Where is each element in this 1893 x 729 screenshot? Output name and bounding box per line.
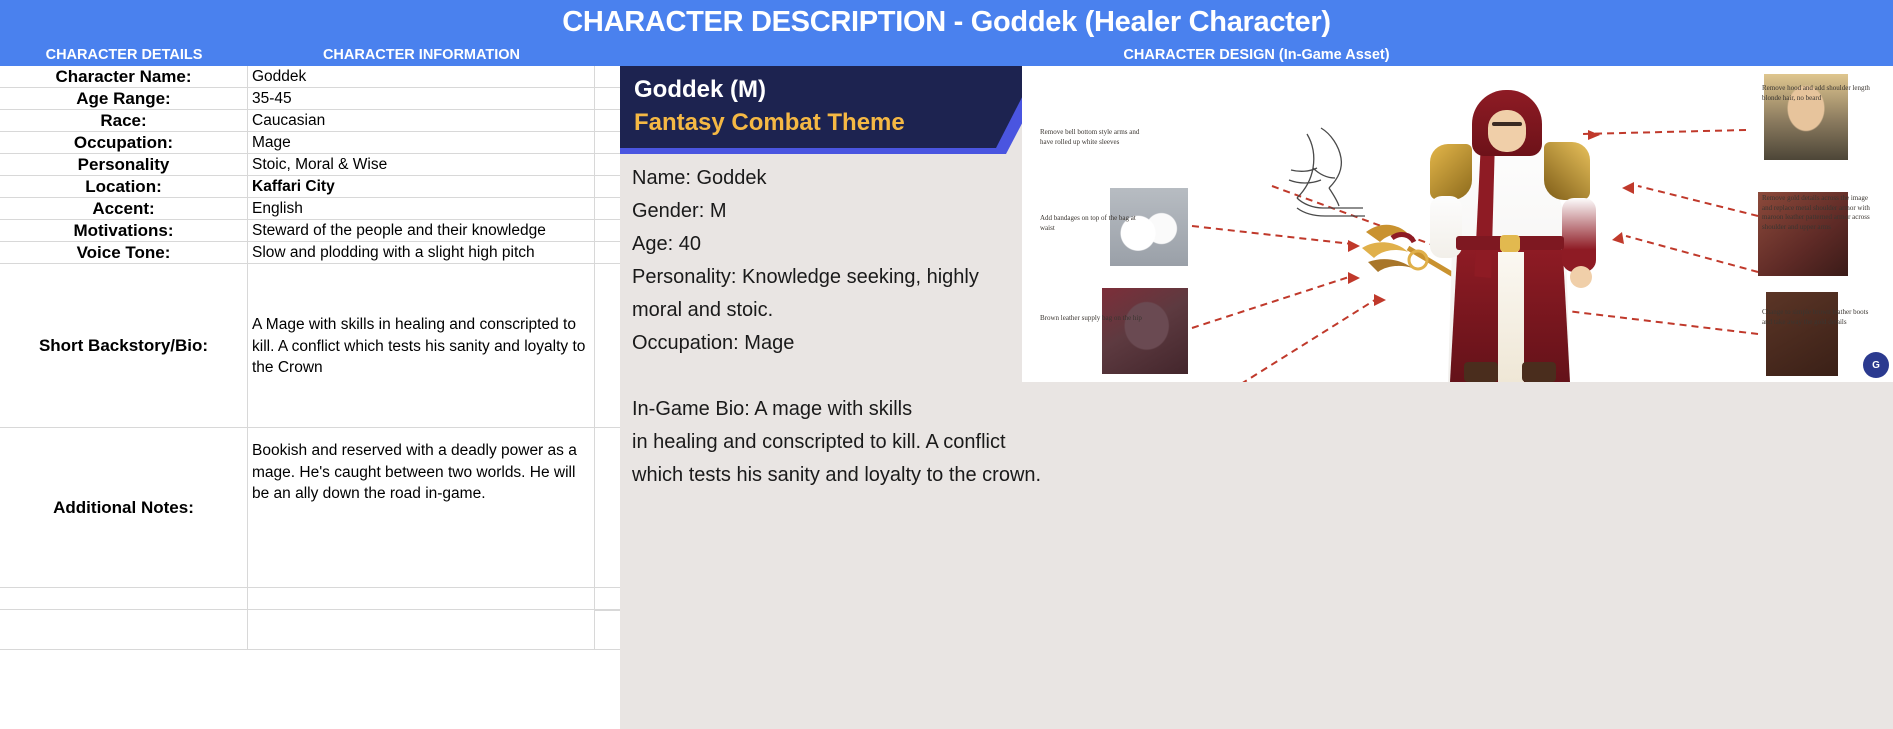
page-title: CHARACTER DESCRIPTION - Goddek (Healer C… [562, 6, 1330, 39]
row-tail [595, 610, 620, 649]
column-header-character-details: CHARACTER DETAILS [0, 44, 248, 66]
banner-character-name: Goddek (M) [634, 76, 766, 104]
table-row[interactable]: Voice Tone: Slow and plodding with a sli… [0, 242, 620, 264]
boot-left [1464, 362, 1498, 382]
annotation-sleeves: Remove bell bottom style arms and have r… [1040, 128, 1152, 147]
row-value[interactable]: 35-45 [248, 88, 595, 109]
row-tail [595, 88, 620, 109]
row-tail [595, 428, 620, 587]
character-details-table: Character Name: Goddek Age Range: 35-45 … [0, 66, 620, 729]
row-tail [595, 110, 620, 131]
table-row[interactable]: Occupation: Mage [0, 132, 620, 154]
character-figure [1394, 90, 1624, 382]
annotation-boots: Change to simple brown leather boots and… [1762, 308, 1874, 327]
row-tail [595, 154, 620, 175]
hand-right [1570, 266, 1592, 288]
row-tail [595, 242, 620, 263]
bio-line: In-Game Bio: A mage with skills [632, 393, 1192, 426]
annotation-hair: Remove hood and add shoulder length blon… [1762, 84, 1874, 103]
table-row[interactable]: Accent: English [0, 198, 620, 220]
table-row[interactable]: Character Name: Goddek [0, 66, 620, 88]
row-label [0, 610, 248, 649]
row-label: Race: [0, 110, 248, 131]
slide-page: CHARACTER DESCRIPTION - Goddek (Healer C… [0, 0, 1893, 729]
row-value[interactable]: Stoic, Moral & Wise [248, 154, 595, 175]
row-value[interactable]: Slow and plodding with a slight high pit… [248, 242, 595, 263]
row-tail [595, 66, 620, 87]
sleeve-right [1562, 198, 1596, 272]
row-value[interactable] [248, 610, 595, 649]
table-row-backstory[interactable]: Short Backstory/Bio: A Mage with skills … [0, 264, 620, 428]
leather-boots-thumbnail [1766, 292, 1838, 376]
shoulder-armor-right [1544, 142, 1590, 200]
row-tail [595, 588, 620, 609]
row-value[interactable]: Caucasian [248, 110, 595, 131]
page-title-bar: CHARACTER DESCRIPTION - Goddek (Healer C… [0, 0, 1893, 44]
table-row-empty[interactable] [0, 588, 620, 610]
row-label: Occupation: [0, 132, 248, 153]
annotation-armor: Remove gold details across the image and… [1762, 194, 1874, 232]
table-row[interactable]: Location: Kaffari City [0, 176, 620, 198]
row-label: Personality [0, 154, 248, 175]
row-label: Character Name: [0, 66, 248, 87]
row-label-notes: Additional Notes: [0, 428, 248, 587]
row-value-backstory[interactable]: A Mage with skills in healing and conscr… [248, 264, 595, 427]
leather-bag-thumbnail [1102, 288, 1188, 374]
annotation-supply-bag: Brown leather supply bag on the hip [1040, 314, 1152, 324]
column-header-row: CHARACTER DETAILS CHARACTER INFORMATION … [0, 44, 1893, 66]
slide-banner: Goddek (M) Fantasy Combat Theme [620, 66, 1038, 148]
bio-line: which tests his sanity and loyalty to th… [632, 459, 1192, 492]
watermark-badge: G [1863, 352, 1889, 378]
table-row-notes[interactable]: Additional Notes: Bookish and reserved w… [0, 428, 620, 588]
row-tail [595, 132, 620, 153]
robe-center-panel [1498, 252, 1524, 382]
row-label: Location: [0, 176, 248, 197]
character-design-image[interactable]: Remove bell bottom style arms and have r… [1022, 66, 1893, 382]
row-value[interactable]: Kaffari City [248, 176, 595, 197]
boot-right [1522, 362, 1556, 382]
annotation-bandages: Add bandages on top of the bag at waist [1040, 214, 1152, 233]
character-design-slide: Goddek (M) Fantasy Combat Theme Name: Go… [620, 66, 1893, 729]
eyes [1492, 122, 1522, 126]
row-value[interactable]: English [248, 198, 595, 219]
belt-buckle [1500, 235, 1520, 252]
row-tail [595, 264, 620, 427]
row-tail [595, 220, 620, 241]
row-label-backstory: Short Backstory/Bio: [0, 264, 248, 427]
table-row[interactable]: Race: Caucasian [0, 110, 620, 132]
face [1488, 110, 1526, 152]
row-value[interactable]: Goddek [248, 66, 595, 87]
column-header-gap [595, 44, 620, 66]
row-tail [595, 176, 620, 197]
bio-line: in healing and conscripted to kill. A co… [632, 426, 1192, 459]
row-label: Accent: [0, 198, 248, 219]
row-value-notes[interactable]: Bookish and reserved with a deadly power… [248, 428, 595, 587]
row-label: Voice Tone: [0, 242, 248, 263]
table-row[interactable]: Age Range: 35-45 [0, 88, 620, 110]
row-label [0, 588, 248, 609]
row-value[interactable] [248, 588, 595, 609]
column-header-character-design: CHARACTER DESIGN (In-Game Asset) [620, 44, 1893, 66]
table-row[interactable]: Motivations: Steward of the people and t… [0, 220, 620, 242]
row-value[interactable]: Mage [248, 132, 595, 153]
table-row-empty[interactable] [0, 610, 620, 650]
table-row[interactable]: Personality Stoic, Moral & Wise [0, 154, 620, 176]
banner-theme: Fantasy Combat Theme [634, 109, 905, 137]
row-label: Age Range: [0, 88, 248, 109]
column-header-character-information: CHARACTER INFORMATION [248, 44, 595, 66]
row-tail [595, 198, 620, 219]
row-value[interactable]: Steward of the people and their knowledg… [248, 220, 595, 241]
row-label: Motivations: [0, 220, 248, 241]
shoulder-armor-left [1430, 144, 1472, 200]
